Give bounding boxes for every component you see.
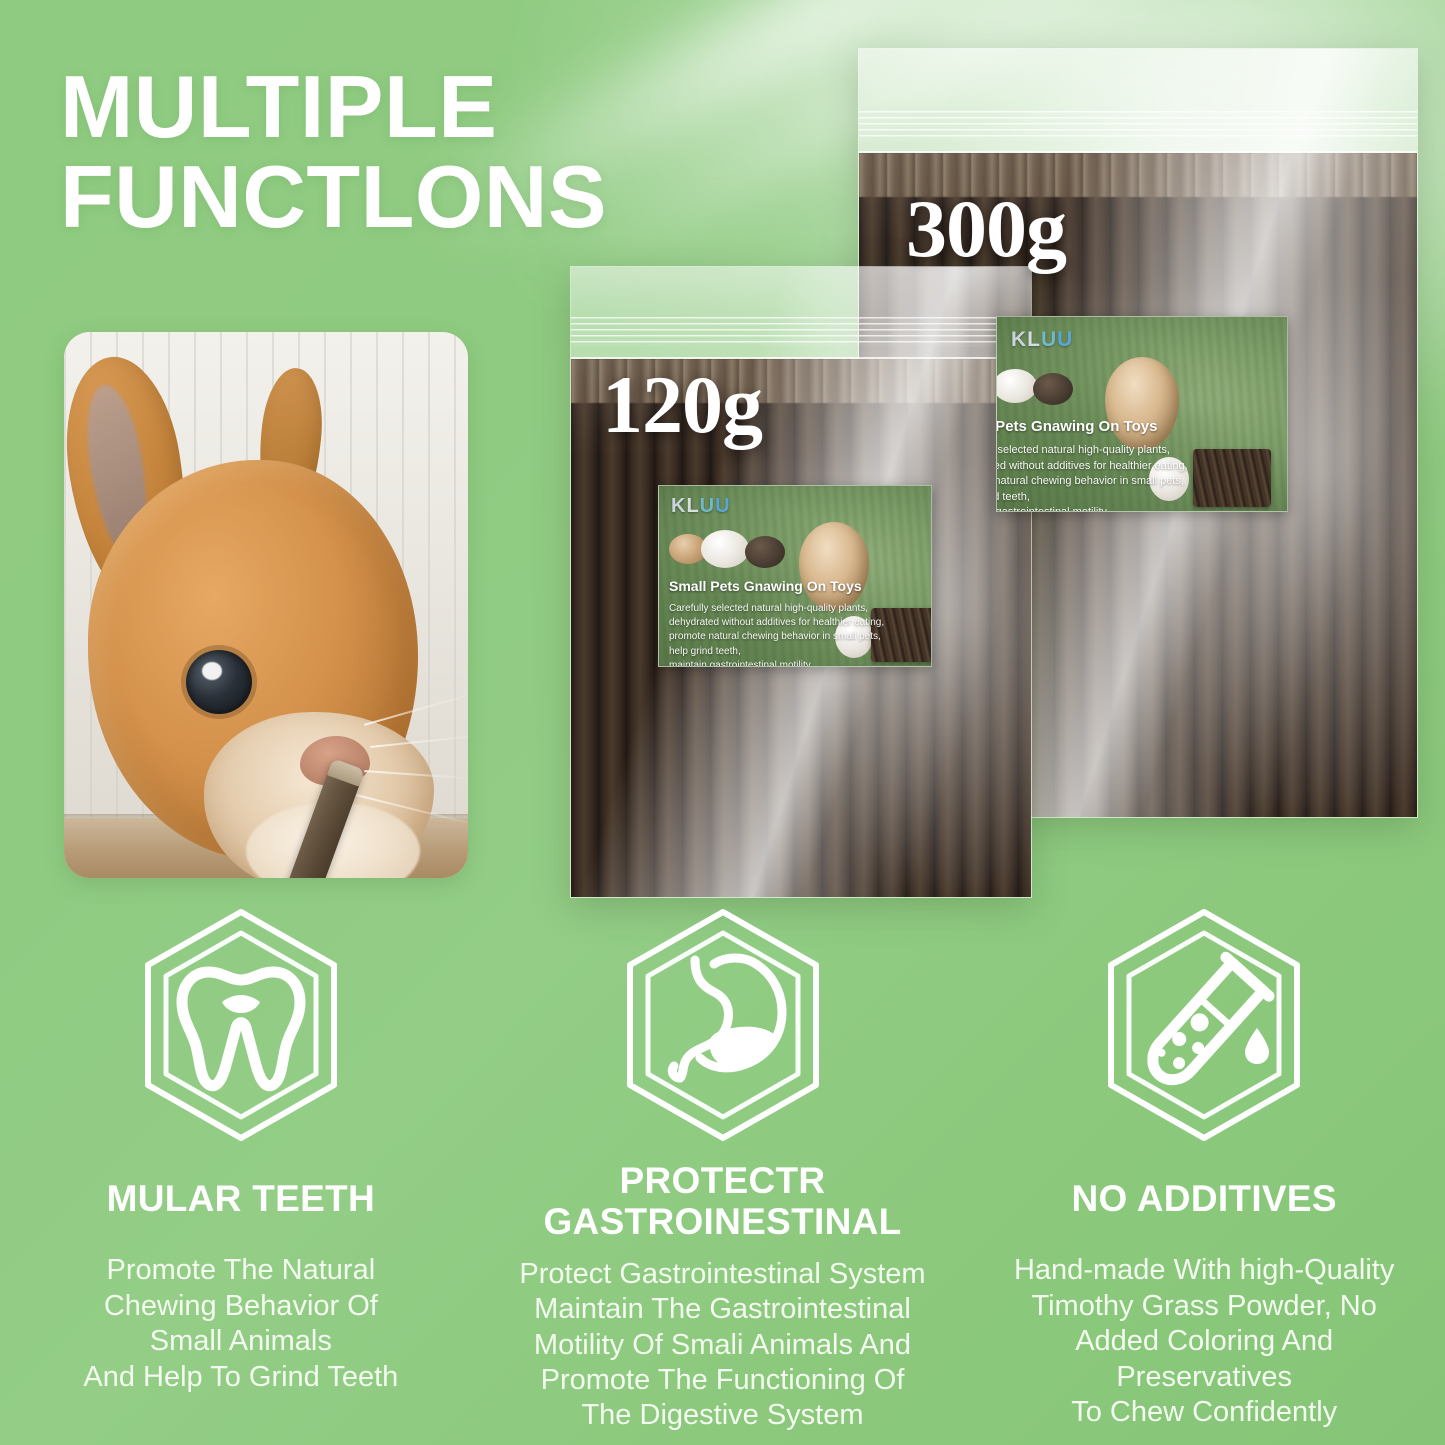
- feature-desc-line: Promote The Functioning Of: [519, 1363, 925, 1398]
- tooth-icon: [116, 900, 366, 1150]
- product-bag-120g: 120g KLUU Small Pets Gnawing On Toys Car…: [570, 266, 1032, 898]
- brand-logo: KLUU: [671, 496, 731, 516]
- feature-desc-line: And Help To Grind Teeth: [83, 1360, 398, 1395]
- test-tube-icon: [1079, 900, 1329, 1150]
- feature-protect-gastrointestinal: PROTECTRGASTROINESTINAL Protect Gastroin…: [482, 900, 964, 1434]
- feature-mular-teeth: MULAR TEETH Promote The Natural Chewing …: [0, 900, 482, 1434]
- brand-letter-k: K: [1011, 328, 1027, 351]
- feature-desc-line: Protect Gastrointestinal System: [519, 1257, 925, 1292]
- weight-badge-300g: 300g: [906, 188, 1066, 270]
- feature-desc-line: Small Animals: [83, 1324, 398, 1359]
- brand-letter-k: K: [671, 495, 686, 517]
- rabbit-chewing-photo: [64, 332, 468, 878]
- zip-lock-lines: [571, 317, 1031, 347]
- brand-letter-u2: U: [715, 495, 730, 517]
- feature-title: NO ADDITIVES: [1071, 1178, 1336, 1219]
- feature-description: Promote The Natural Chewing Behavior Of …: [83, 1253, 398, 1395]
- brand-logo: KLUU: [1011, 329, 1073, 350]
- rabbit-eye-glint: [202, 662, 222, 680]
- feature-description: Hand-made With high-Quality Timothy Gras…: [1014, 1253, 1394, 1430]
- product-label-300g: KLUU Small Pets Gnawing On Toys Carefull…: [996, 316, 1288, 512]
- headline-line-1: MULTIPLE: [60, 57, 497, 156]
- label-hamster-large: [1105, 357, 1179, 449]
- feature-desc-line: Added Coloring And: [1014, 1324, 1394, 1359]
- rabbit-eye: [186, 650, 252, 714]
- stomach-icon: [598, 900, 848, 1150]
- zip-lock-seal: [571, 267, 1031, 359]
- feature-desc-line: To Chew Confidently: [1014, 1395, 1394, 1430]
- page-title: MULTIPLEFUNCTLONS: [60, 62, 780, 242]
- label-hamster-large: [799, 522, 869, 610]
- feature-title: PROTECTRGASTROINESTINAL: [543, 1160, 901, 1243]
- label-desc-line: maintain gastrointestinal motility,: [669, 659, 884, 667]
- label-rabbit-white: [701, 530, 749, 568]
- zip-lock-seal: [859, 49, 1417, 153]
- feature-desc-line: The Digestive System: [519, 1398, 925, 1433]
- label-desc-line: promote natural chewing behavior in smal…: [996, 474, 1188, 490]
- feature-row: MULAR TEETH Promote The Natural Chewing …: [0, 900, 1445, 1434]
- label-hamster-dark: [1033, 373, 1073, 405]
- label-hamster-dark: [745, 536, 785, 568]
- feature-title-line-1: PROTECTR: [620, 1160, 826, 1201]
- brand-letter-u1: U: [700, 495, 715, 517]
- label-desc-line: dehydrated without additives for healthi…: [669, 616, 884, 630]
- label-stick-bundle: [1193, 449, 1271, 507]
- feature-description: Protect Gastrointestinal System Maintain…: [519, 1257, 925, 1434]
- label-desc-line: Carefully selected natural high-quality …: [669, 602, 884, 616]
- feature-desc-line: Timothy Grass Powder, No: [1014, 1289, 1394, 1324]
- label-desc-line: help grind teeth,: [996, 490, 1188, 506]
- label-desc-line: promote natural chewing behavior in smal…: [669, 630, 884, 644]
- zip-lock-lines: [859, 111, 1417, 141]
- feature-desc-line: Motility Of Smali Animals And: [519, 1328, 925, 1363]
- product-label-120g: KLUU Small Pets Gnawing On Toys Carefull…: [658, 485, 932, 667]
- label-description: Carefully selected natural high-quality …: [996, 443, 1188, 512]
- headline-line-2: FUNCTLONS: [60, 152, 780, 242]
- feature-desc-line: Chewing Behavior Of: [83, 1289, 398, 1324]
- feature-desc-line: Maintain The Gastrointestinal: [519, 1292, 925, 1327]
- brand-letter-u1: U: [1041, 328, 1057, 351]
- feature-no-additives: NO ADDITIVES Hand-made With high-Quality…: [963, 900, 1445, 1434]
- feature-desc-line: Hand-made With high-Quality: [1014, 1253, 1394, 1288]
- feature-desc-line: Preservatives: [1014, 1360, 1394, 1395]
- weight-badge-120g: 120g: [602, 364, 762, 446]
- label-desc-line: Carefully selected natural high-quality …: [996, 443, 1188, 459]
- feature-desc-line: Promote The Natural: [83, 1253, 398, 1288]
- label-title: Small Pets Gnawing On Toys: [669, 578, 862, 594]
- label-desc-line: maintain gastrointestinal motility,: [996, 505, 1188, 512]
- feature-title: MULAR TEETH: [107, 1178, 375, 1219]
- label-desc-line: help grind teeth,: [669, 645, 884, 659]
- brand-letter-l: L: [686, 495, 699, 517]
- label-title: Small Pets Gnawing On Toys: [996, 418, 1157, 435]
- label-desc-line: dehydrated without additives for healthi…: [996, 459, 1188, 475]
- label-description: Carefully selected natural high-quality …: [669, 602, 884, 667]
- infographic-canvas: MULTIPLEFUNCTLONS: [0, 0, 1445, 1445]
- brand-letter-l: L: [1027, 328, 1041, 351]
- feature-title-line-2: GASTROINESTINAL: [543, 1201, 901, 1242]
- brand-letter-u2: U: [1057, 328, 1073, 351]
